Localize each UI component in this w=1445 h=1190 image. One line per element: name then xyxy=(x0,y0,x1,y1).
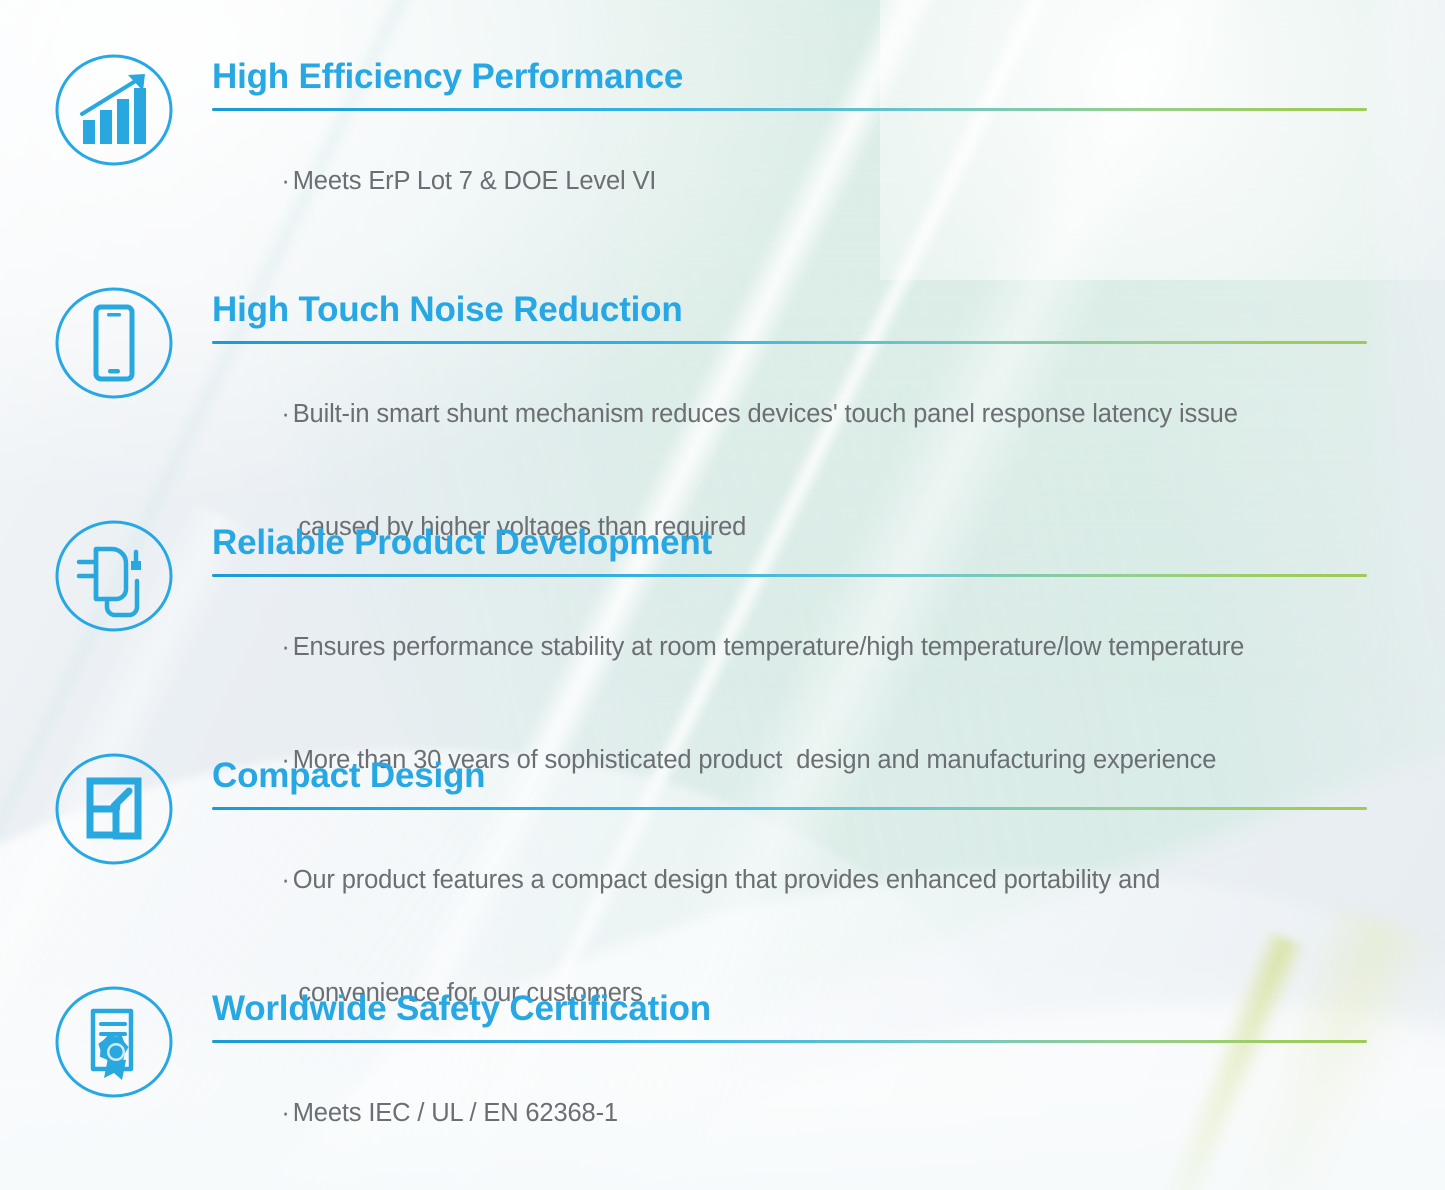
certificate-award-icon xyxy=(52,984,176,1100)
bullet-dot: · xyxy=(281,1099,289,1127)
bullet-dot: · xyxy=(281,167,289,195)
feature-line-text: Ensures performance stability at room te… xyxy=(293,633,1244,661)
feature-row-worldwide-safety-certification: Worldwide Safety Certification ·Meets IE… xyxy=(0,984,1445,1170)
feature-title: High Efficiency Performance xyxy=(212,58,1387,96)
feature-line-text: Meets IEC / UL / EN 62368-1 xyxy=(293,1099,618,1127)
bullet-dot: · xyxy=(281,400,289,428)
feature-list: High Efficiency Performance ·Meets ErP L… xyxy=(0,0,1445,1190)
feature-body: Worldwide Safety Certification ·Meets IE… xyxy=(212,984,1387,1170)
feature-line-text: Built-in smart shunt mechanism reduces d… xyxy=(293,400,1238,428)
feature-line: ·Ensures performance stability at room t… xyxy=(212,591,1387,704)
feature-line: ·Meets ErP Lot 7 & DOE Level VI xyxy=(212,125,1387,238)
bullet-dot: · xyxy=(281,866,289,894)
compact-resize-icon xyxy=(52,751,176,867)
feature-row-high-efficiency-performance: High Efficiency Performance ·Meets ErP L… xyxy=(0,52,1445,238)
bar-chart-growth-icon xyxy=(52,52,176,168)
feature-divider xyxy=(212,108,1367,111)
bullet-dot: · xyxy=(281,633,289,661)
feature-divider xyxy=(212,574,1367,577)
feature-divider xyxy=(212,1040,1367,1043)
power-adapter-icon xyxy=(52,518,176,634)
feature-line: ·Meets IEC / UL / EN 62368-1 xyxy=(212,1057,1387,1170)
feature-line-text: Our product features a compact design th… xyxy=(293,866,1160,894)
feature-title: High Touch Noise Reduction xyxy=(212,291,1387,329)
feature-title: Compact Design xyxy=(212,757,1387,795)
feature-line-text: Meets ErP Lot 7 & DOE Level VI xyxy=(293,167,657,195)
feature-line: ·Our product features a compact design t… xyxy=(212,824,1387,937)
feature-body: High Efficiency Performance ·Meets ErP L… xyxy=(212,52,1387,238)
feature-lines: ·Meets IEC / UL / EN 62368-1 xyxy=(212,1057,1387,1170)
feature-divider xyxy=(212,807,1367,810)
feature-title: Worldwide Safety Certification xyxy=(212,990,1387,1028)
feature-lines: ·Meets ErP Lot 7 & DOE Level VI xyxy=(212,125,1387,238)
smartphone-icon xyxy=(52,285,176,401)
feature-line: ·Built-in smart shunt mechanism reduces … xyxy=(212,358,1387,471)
feature-divider xyxy=(212,341,1367,344)
feature-title: Reliable Product Development xyxy=(212,524,1387,562)
